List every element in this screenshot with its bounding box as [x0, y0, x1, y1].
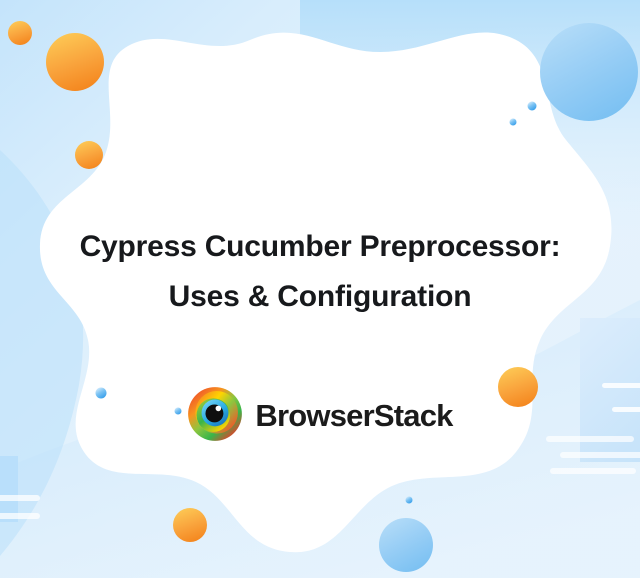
orange-circle-large-top-left — [46, 33, 104, 91]
panel-left-line-1 — [0, 495, 40, 501]
blue-circle-bottom-right — [379, 518, 433, 572]
panel-right-line-1 — [602, 383, 640, 388]
panel-right-line-4 — [560, 452, 640, 458]
orange-circle-right — [498, 367, 538, 407]
panel-right-line-5 — [550, 468, 636, 474]
orange-circle-bottom — [173, 508, 207, 542]
blue-circle-top-right — [540, 23, 638, 121]
background-artwork — [0, 0, 640, 578]
blue-dot-upper-right-a — [528, 102, 537, 111]
blue-dot-lower-right — [406, 497, 413, 504]
blue-dot-upper-right-b — [510, 119, 517, 126]
panel-left-line-2 — [0, 513, 40, 519]
banner-card: Cypress Cucumber Preprocessor: Uses & Co… — [0, 0, 640, 578]
orange-circle-mid-left — [75, 141, 103, 169]
panel-left — [0, 456, 18, 522]
orange-circle-small-top-left — [8, 21, 32, 45]
panel-right-line-2 — [612, 407, 640, 412]
blue-dot-lower-left-a — [96, 388, 107, 399]
panel-right-line-3 — [546, 436, 634, 442]
blue-dot-lower-left-b — [175, 408, 182, 415]
